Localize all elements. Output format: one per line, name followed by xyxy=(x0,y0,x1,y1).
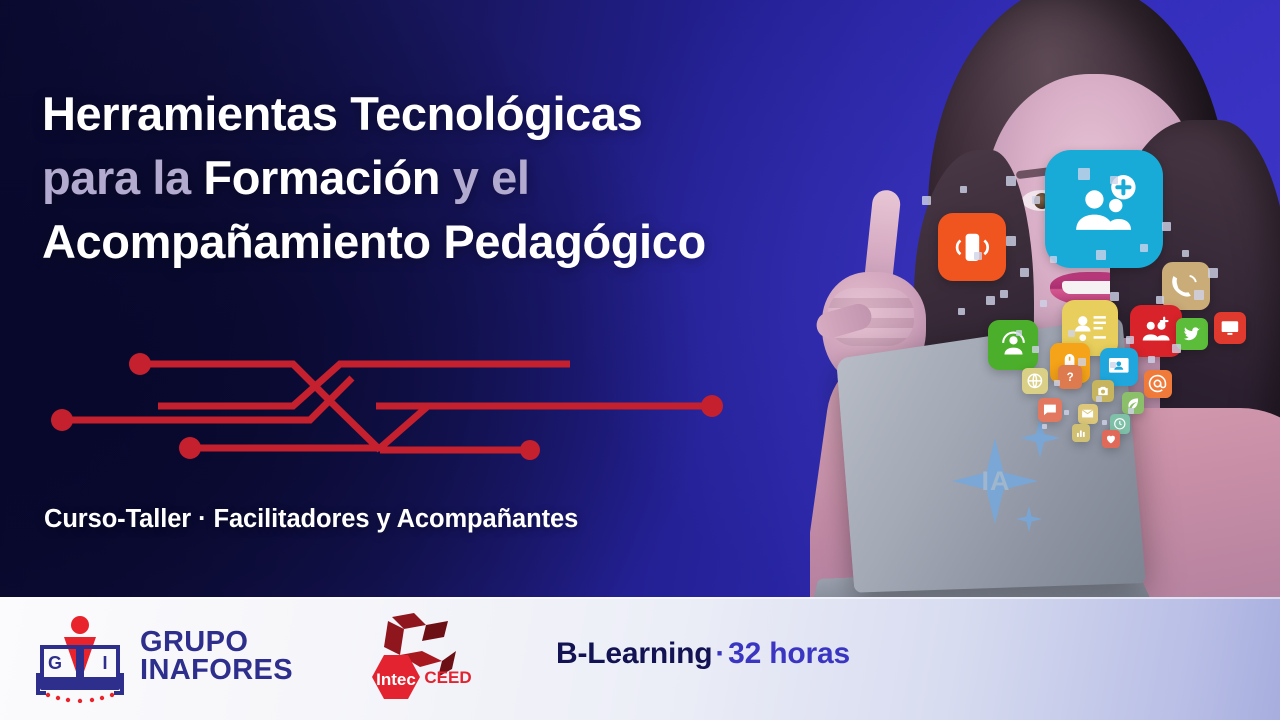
inafores-wordmark: GRUPO INAFORES xyxy=(140,629,293,685)
footer-bar: G I GRUPO INAFORES xyxy=(0,597,1280,720)
inafores-book-letter-left: G xyxy=(48,653,62,673)
ia-sparkle-badge: IA xyxy=(942,422,1062,542)
eye-left xyxy=(1022,190,1062,211)
logo-intec-ceed: Intec CEED xyxy=(352,611,482,707)
course-promo-banner: IA ? Herramientas Tecnológicas para la F… xyxy=(0,0,1280,720)
inafores-word-2: INAFORES xyxy=(140,657,293,685)
inafores-word-1: GRUPO xyxy=(140,629,293,657)
headline-muted-a: para la xyxy=(42,151,203,204)
intec-suffix-label: CEED xyxy=(424,668,471,687)
headline-muted-b: y el xyxy=(440,151,529,204)
footer-tagline: B-Learning·32 horas xyxy=(556,637,850,671)
subtitle: Curso-Taller · Facilitadores y Acompañan… xyxy=(44,505,578,534)
circuit-decoration xyxy=(40,340,750,470)
circuit-trace-6 xyxy=(190,406,616,448)
nose xyxy=(1072,216,1098,262)
page-title: Herramientas Tecnológicas para la Formac… xyxy=(42,82,832,274)
headline-strong: Formación xyxy=(203,151,440,204)
intec-hex-label: Intec xyxy=(376,670,416,689)
ia-label: IA xyxy=(960,466,1032,497)
tagline-duration: 32 horas xyxy=(728,637,850,670)
headline-line-1: Herramientas Tecnológicas xyxy=(42,82,832,146)
inafores-book-letter-right: I xyxy=(102,653,107,673)
sparkle-small-bottom-icon xyxy=(1016,506,1042,532)
circuit-trace-3 xyxy=(158,364,570,406)
logo-grupo-inafores: G I GRUPO INAFORES xyxy=(34,611,293,703)
tagline-modality: B-Learning xyxy=(556,637,712,670)
headline-line-3: Acompañamiento Pedagógico xyxy=(42,210,832,274)
sparkle-small-top-icon xyxy=(1020,418,1060,458)
footer-divider xyxy=(0,597,1280,599)
inafores-emblem-icon: G I xyxy=(34,611,126,703)
headline-line-2: para la Formación y el xyxy=(42,146,832,210)
tagline-separator: · xyxy=(712,637,728,670)
